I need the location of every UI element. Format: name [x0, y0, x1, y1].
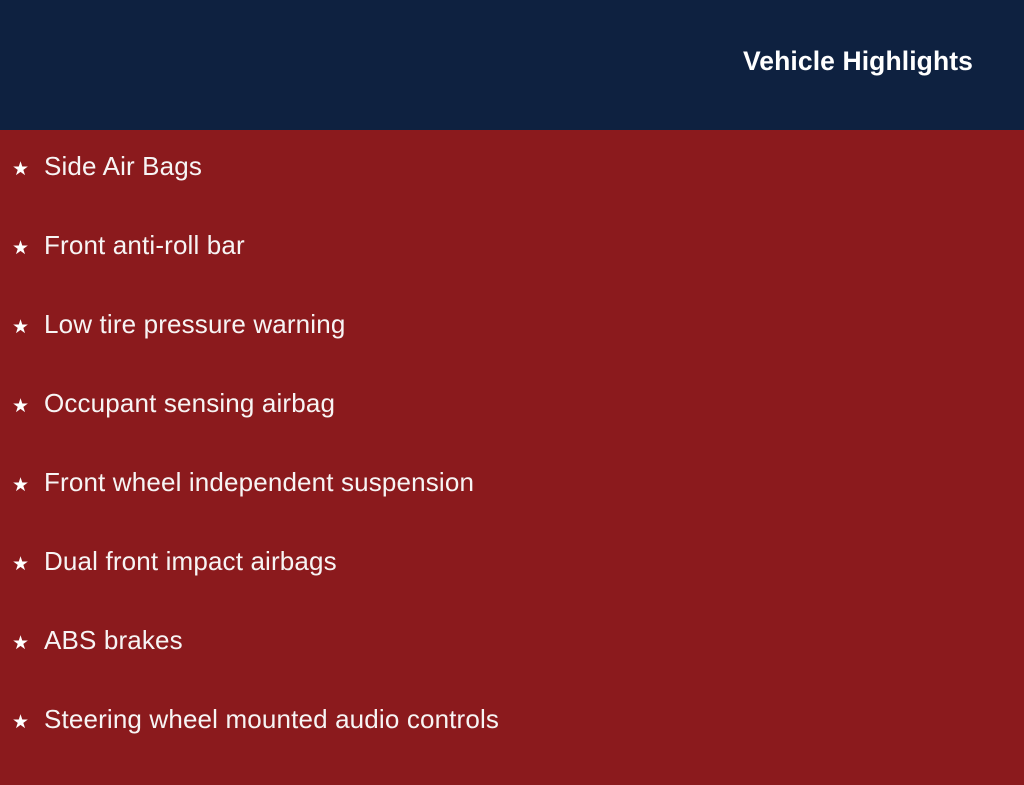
list-item-label: Low tire pressure warning — [44, 311, 345, 337]
list-item-label: Front anti-roll bar — [44, 232, 245, 258]
star-icon: ★ — [12, 713, 44, 732]
list-item: ★ ABS brakes — [0, 627, 1024, 706]
star-icon: ★ — [12, 160, 44, 179]
star-icon: ★ — [12, 318, 44, 337]
list-item-label: Side Air Bags — [44, 153, 202, 179]
star-icon: ★ — [12, 555, 44, 574]
list-item: ★ Low tire pressure warning — [0, 311, 1024, 390]
vehicle-highlights-list: ★ Side Air Bags ★ Front anti-roll bar ★ … — [0, 130, 1024, 785]
list-item-label: Steering wheel mounted audio controls — [44, 706, 499, 732]
list-item-label: Occupant sensing airbag — [44, 390, 335, 416]
list-item-label: Dual front impact airbags — [44, 548, 337, 574]
list-item: ★ Steering wheel mounted audio controls — [0, 706, 1024, 785]
star-icon: ★ — [12, 397, 44, 416]
list-item-label: ABS brakes — [44, 627, 183, 653]
star-icon: ★ — [12, 476, 44, 495]
list-item: ★ Front anti-roll bar — [0, 232, 1024, 311]
star-icon: ★ — [12, 634, 44, 653]
slide-body: ★ Side Air Bags ★ Front anti-roll bar ★ … — [0, 130, 1024, 768]
vehicle-highlights-slide: Vehicle Highlights ★ Side Air Bags ★ Fro… — [0, 0, 1024, 768]
list-item: ★ Dual front impact airbags — [0, 548, 1024, 627]
list-item-label: Front wheel independent suspension — [44, 469, 474, 495]
slide-header: Vehicle Highlights — [0, 0, 1024, 130]
list-item: ★ Occupant sensing airbag — [0, 390, 1024, 469]
list-item: ★ Front wheel independent suspension — [0, 469, 1024, 548]
star-icon: ★ — [12, 239, 44, 258]
page-title: Vehicle Highlights — [743, 0, 973, 75]
list-item: ★ Side Air Bags — [0, 130, 1024, 232]
